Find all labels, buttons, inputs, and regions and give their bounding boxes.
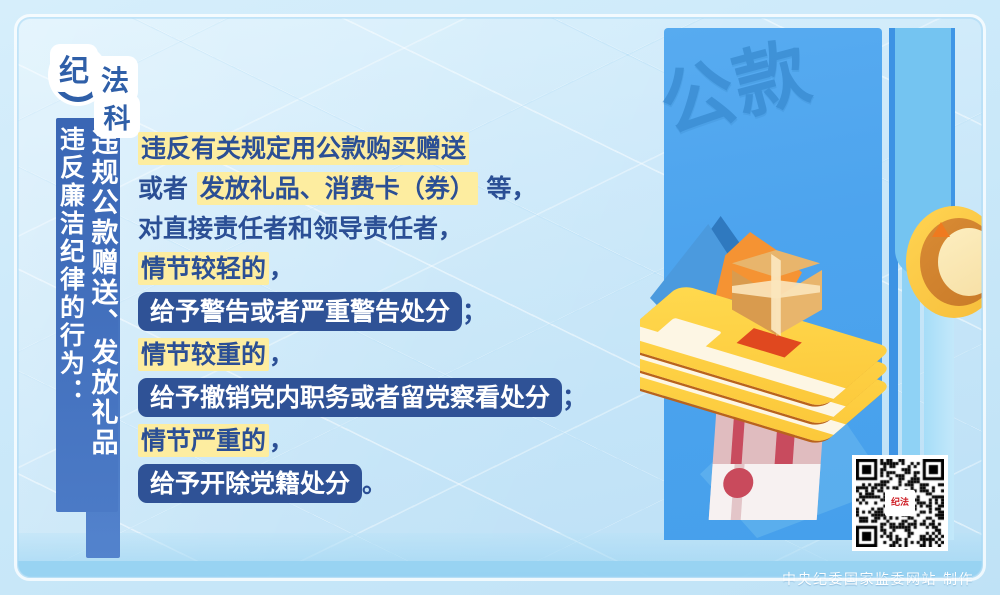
text-segment-highlight: 情节较重的 [138,338,269,371]
text-segment-highlight: 情节较轻的 [138,252,269,285]
logo-char-ji: 纪 [54,48,94,88]
text-segment-plain: 等， [478,174,537,203]
brand-logo: 纪 法 科 [52,48,144,136]
text-line-7: 给予撤销党内职务或者留党察看处分； [138,378,608,417]
text-segment-plain: ， [269,340,294,369]
text-line-6: 情节较重的， [138,338,608,371]
text-segment-highlight: 情节严重的 [138,424,269,457]
text-segment-highlight: 违反有关规定用公款购买赠送 [138,132,469,165]
text-segment-plain: ， [269,426,294,455]
text-segment-plain: ， [269,254,294,283]
logo-char-fa: 法 [96,60,134,98]
text-line-1: 违反有关规定用公款购买赠送 [138,132,608,165]
safe-dial-icon [906,206,982,318]
footer-credit: 中央纪委国家监委网站 制作 [782,569,974,589]
banner-text-left: 违反廉洁纪律的行为： [58,126,84,506]
text-segment-highlight: 发放礼品、消费卡（券） [197,172,478,205]
text-segment-plain: 对直接责任者和领导责任者， [138,214,463,243]
text-line-2: 或者 发放礼品、消费卡（券） 等， [138,172,608,205]
main-text-block: 违反有关规定用公款购买赠送或者 发放礼品、消费卡（券） 等，对直接责任者和领导责… [138,132,608,510]
text-segment-pill: 给予警告或者严重警告处分 [138,292,462,331]
text-line-5: 给予警告或者严重警告处分； [138,292,608,331]
infographic-poster: 公款 纪 法 科 违反廉洁纪律的行为 [0,0,1000,595]
banner-text-right: 违规公款赠送、发放礼品 [88,128,116,552]
qr-code[interactable]: 纪法 [852,455,948,551]
qr-center-mark: 纪法 [885,490,915,516]
text-segment-plain: 或者 [138,174,197,203]
text-segment-plain: ； [562,383,587,412]
text-line-4: 情节较轻的， [138,252,608,285]
text-line-3: 对直接责任者和领导责任者， [138,212,608,245]
text-segment-pill: 给予撤销党内职务或者留党察看处分 [138,378,562,417]
text-segment-plain: ； [462,297,487,326]
text-segment-plain: 。 [362,469,387,498]
gift-box-icon [732,250,828,346]
text-line-8: 情节严重的， [138,424,608,457]
text-segment-pill: 给予开除党籍处分 [138,464,362,503]
text-line-9: 给予开除党籍处分。 [138,464,608,503]
logo-char-ke: 科 [98,98,136,134]
